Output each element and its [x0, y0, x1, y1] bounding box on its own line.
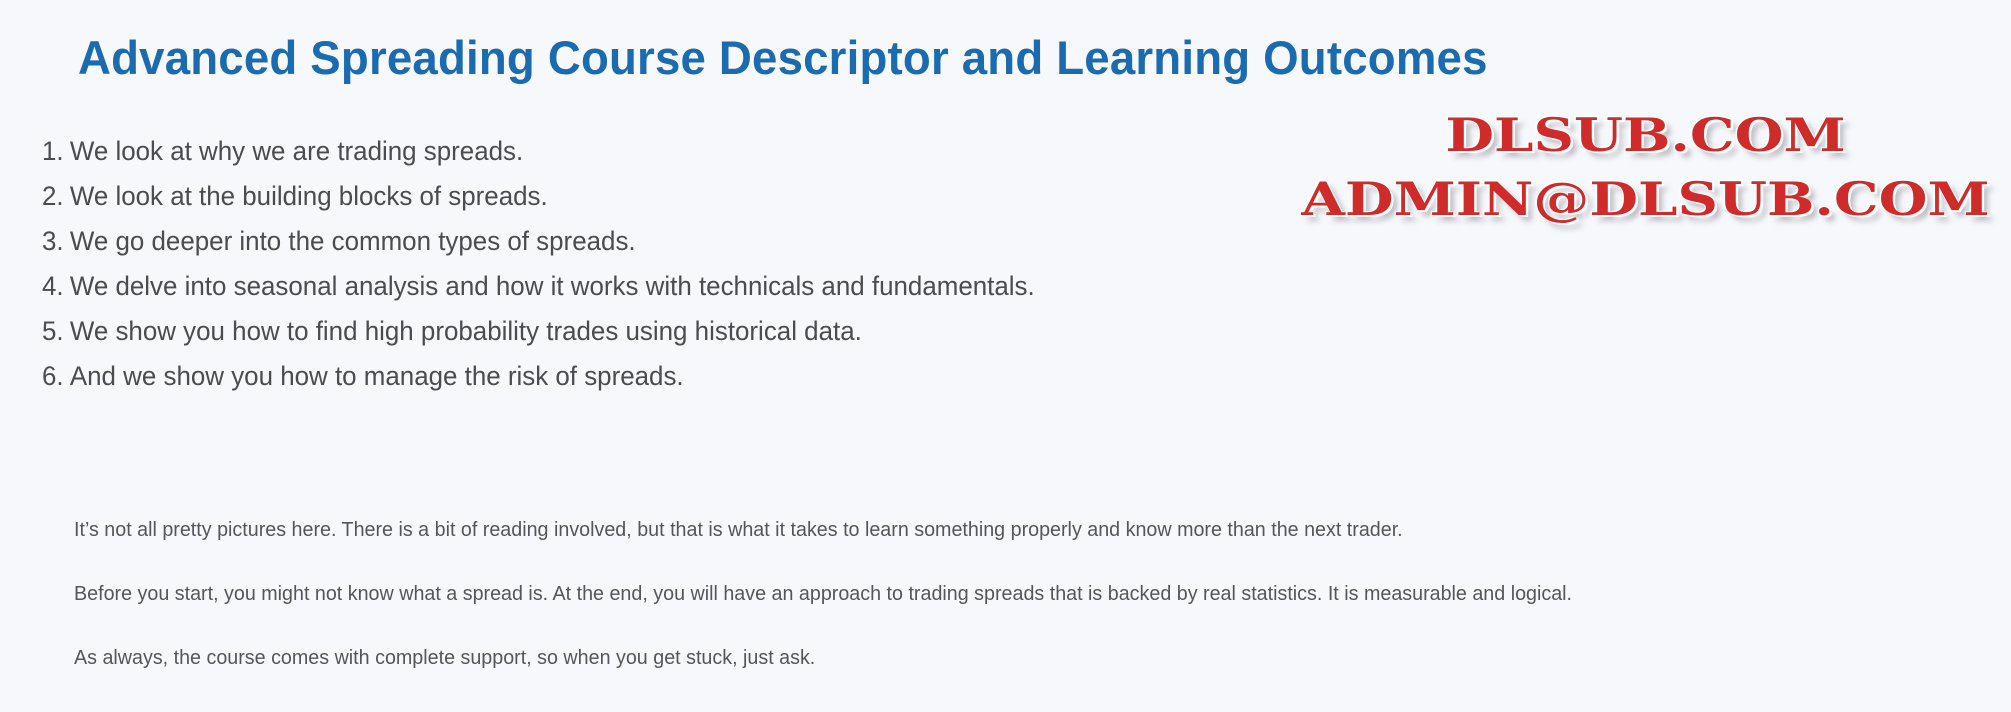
list-item-number: 4. — [42, 273, 70, 300]
note-paragraph: It’s not all pretty pictures here. There… — [74, 520, 1572, 564]
list-item-label: And we show you how to manage the risk o… — [70, 361, 684, 391]
list-item: 3.We go deeper into the common types of … — [42, 228, 1035, 273]
list-item-label: We show you how to find high probability… — [70, 316, 862, 346]
list-item: 4.We delve into seasonal analysis and ho… — [42, 273, 1035, 318]
list-item-number: 6. — [42, 363, 70, 390]
list-item-number: 5. — [42, 318, 70, 345]
list-item-number: 1. — [42, 138, 70, 165]
watermark-email-label: ADMIN@DLSUB.COM — [1200, 168, 2011, 230]
note-paragraph: As always, the course comes with complet… — [74, 648, 1572, 692]
watermark: DLSUB.COM ADMIN@DLSUB.COM — [1280, 104, 2011, 264]
notes-block: It’s not all pretty pictures here. There… — [74, 500, 1595, 712]
page-root: Advanced Spreading Course Descriptor and… — [0, 0, 2011, 668]
watermark-site-label: DLSUB.COM — [1200, 104, 2011, 166]
list-item-label: We delve into seasonal analysis and how … — [70, 271, 1035, 301]
list-item: 1.We look at why we are trading spreads. — [42, 138, 1035, 183]
note-paragraph: Before you start, you might not know wha… — [74, 584, 1572, 628]
list-item-number: 3. — [42, 228, 70, 255]
list-item-label: We look at the building blocks of spread… — [70, 181, 548, 211]
list-item: 5.We show you how to find high probabili… — [42, 318, 1035, 363]
list-item-number: 2. — [42, 183, 70, 210]
list-item-label: We go deeper into the common types of sp… — [70, 226, 636, 256]
list-item: 2.We look at the building blocks of spre… — [42, 183, 1035, 228]
learning-outcomes-list: 1.We look at why we are trading spreads.… — [42, 138, 1076, 408]
list-item-label: We look at why we are trading spreads. — [70, 136, 523, 166]
list-item: 6.And we show you how to manage the risk… — [42, 363, 1035, 408]
page-title: Advanced Spreading Course Descriptor and… — [78, 30, 1488, 85]
